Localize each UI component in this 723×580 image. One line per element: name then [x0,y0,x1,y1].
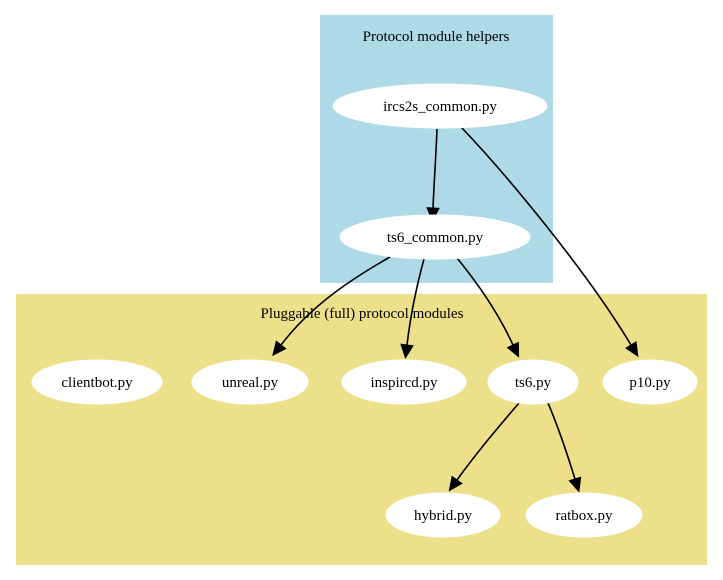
node-label-ratbox: ratbox.py [555,508,613,524]
node-clientbot[interactable]: clientbot.py [32,360,162,404]
node-hybrid[interactable]: hybrid.py [386,493,500,537]
node-label-inspircd: inspircd.py [370,375,438,391]
dependency-graph: Protocol module helpersPluggable (full) … [0,0,723,580]
node-ircs2s_common[interactable]: ircs2s_common.py [333,84,547,128]
node-label-hybrid: hybrid.py [414,508,472,524]
cluster-label-helpers: Protocol module helpers [363,29,510,45]
node-ratbox[interactable]: ratbox.py [526,493,642,537]
node-ts6_common[interactable]: ts6_common.py [340,215,530,259]
node-label-ircs2s_common: ircs2s_common.py [383,99,497,115]
node-label-ts6: ts6.py [515,375,552,391]
node-unreal[interactable]: unreal.py [192,360,308,404]
node-label-unreal: unreal.py [222,375,279,391]
node-label-p10: p10.py [629,375,671,391]
node-ts6[interactable]: ts6.py [488,360,578,404]
node-label-clientbot: clientbot.py [61,375,133,391]
node-inspircd[interactable]: inspircd.py [342,360,466,404]
diagram-canvas: Protocol module helpersPluggable (full) … [0,0,723,580]
node-p10[interactable]: p10.py [603,360,697,404]
node-label-ts6_common: ts6_common.py [387,230,484,246]
cluster-label-pluggable: Pluggable (full) protocol modules [261,306,464,322]
